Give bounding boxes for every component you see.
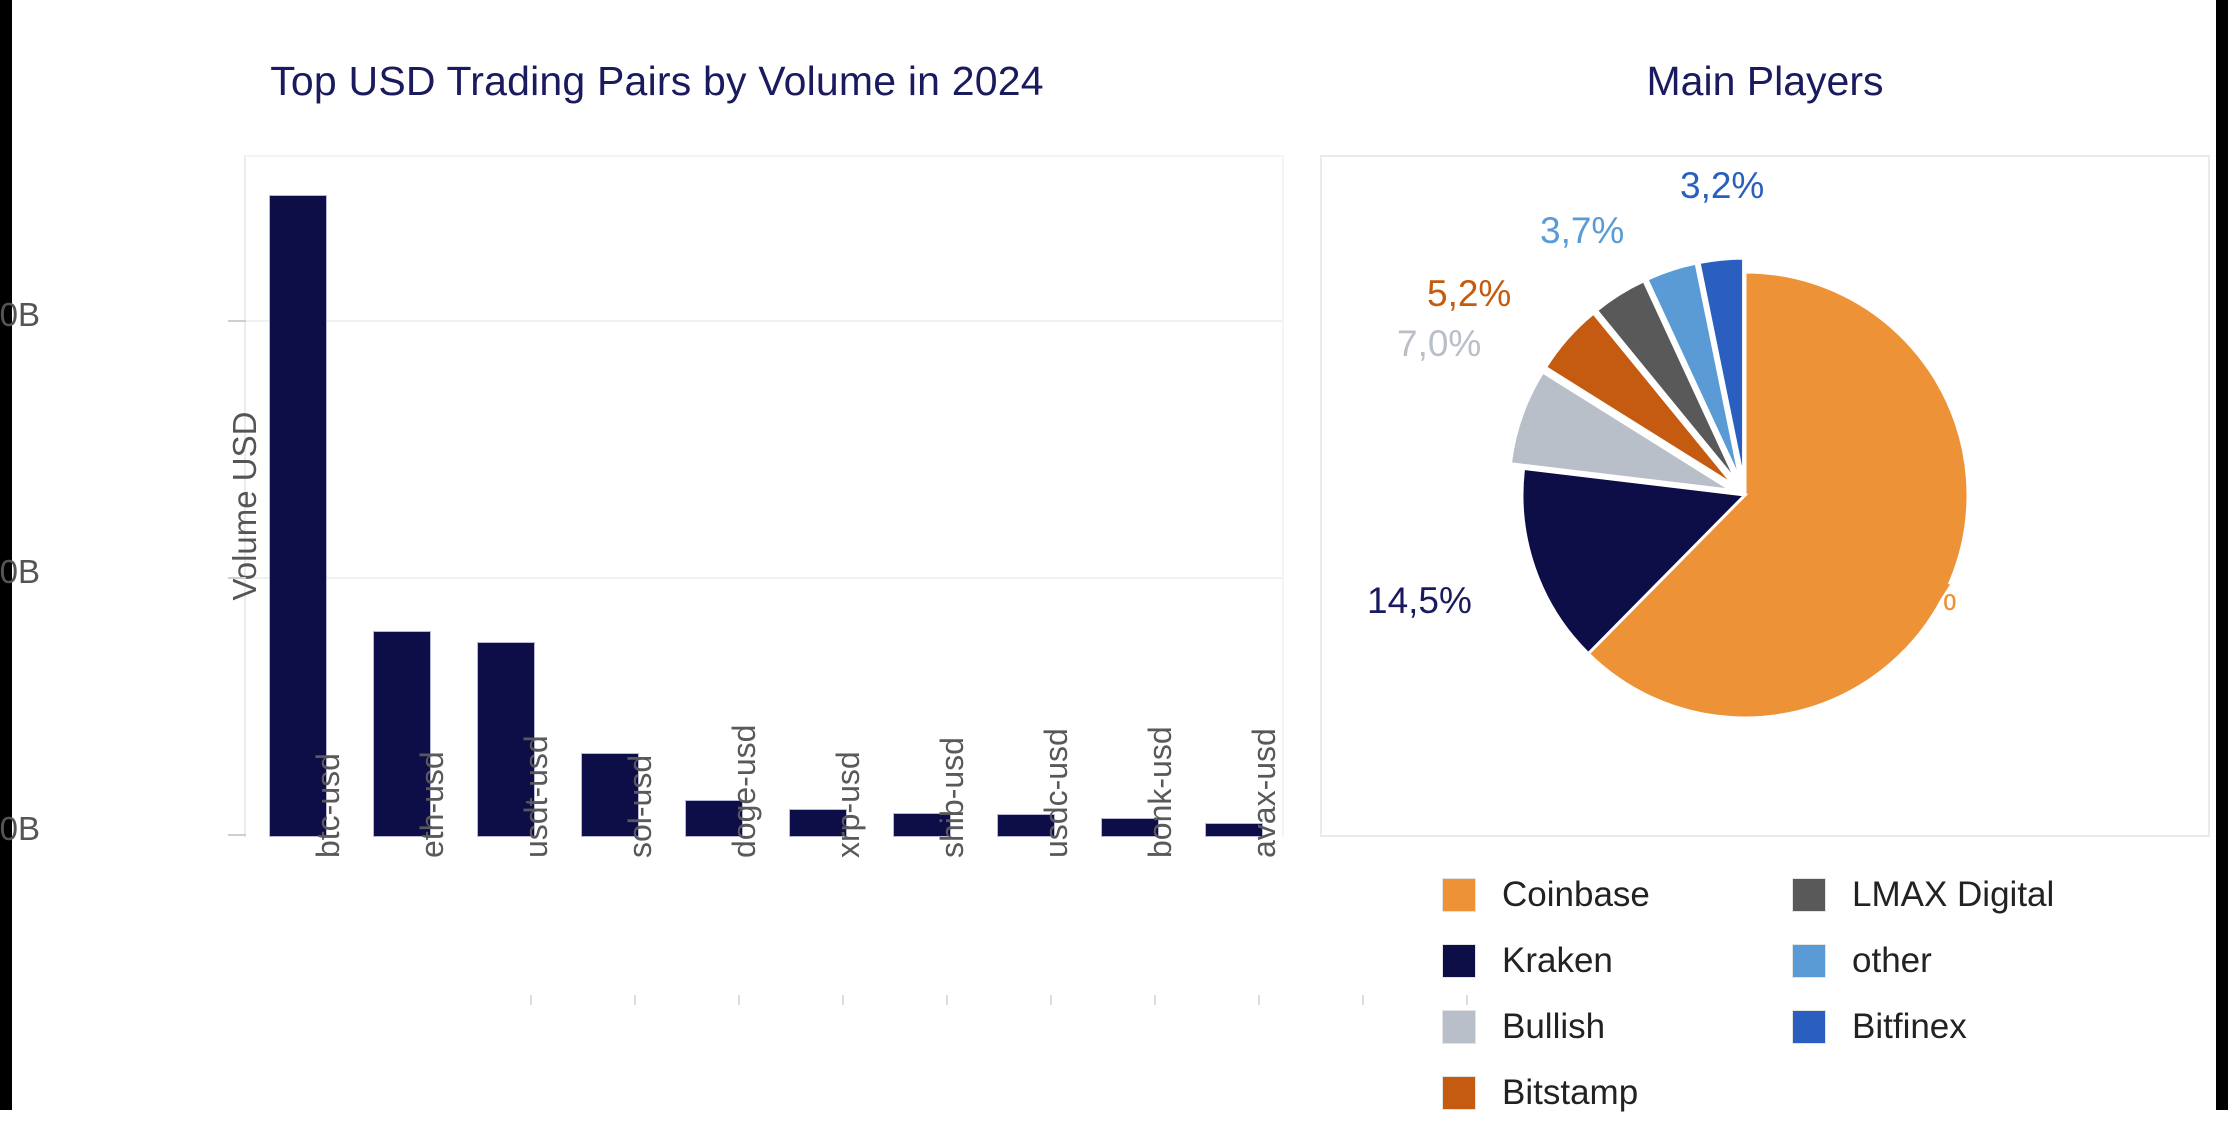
legend-item-label: Bitfinex [1852, 1007, 1967, 1047]
pie-chart-svg [1322, 157, 2212, 839]
legend-swatch-icon [1442, 1076, 1476, 1110]
x-tick-mark [1258, 995, 1260, 1005]
pie-label-32: 3,2% [1680, 165, 1764, 207]
legend-swatch-icon [1442, 944, 1476, 978]
legend-swatch-icon [1442, 878, 1476, 912]
x-tick-mark [738, 995, 740, 1005]
x-tick-label-shib-usd: shib-usd [934, 737, 971, 858]
legend-swatch-icon [1792, 944, 1826, 978]
x-tick-mark [946, 995, 948, 1005]
legend-swatch-icon [1792, 878, 1826, 912]
x-tick-mark [530, 995, 532, 1005]
x-tick-label-eth-usd: eth-usd [414, 751, 451, 858]
y-tick-mark [228, 577, 246, 579]
legend-item-bitfinex[interactable]: Bitfinex [1792, 994, 2054, 1060]
legend-item-coinbase[interactable]: Coinbase [1442, 862, 1650, 928]
legend-item-label: Kraken [1502, 941, 1613, 981]
legend-swatch-icon [1442, 1010, 1476, 1044]
pie-chart-legend: CoinbaseKrakenBullishBitstamp LMAX Digit… [1442, 862, 2228, 1102]
bar-chart-plot-area: Volume USD [244, 155, 1284, 837]
y-tick-label-400B: 400B [0, 296, 40, 334]
y-tick-label-200B: 200B [0, 553, 40, 591]
legend-item-bitstamp[interactable]: Bitstamp [1442, 1060, 1650, 1126]
pie-label-70: 7,0% [1397, 323, 1481, 365]
x-tick-mark [1154, 995, 1156, 1005]
x-tick-label-usdc-usd: usdc-usd [1038, 728, 1075, 858]
x-tick-label-bonk-usd: bonk-usd [1142, 726, 1179, 858]
legend-item-lmax-digital[interactable]: LMAX Digital [1792, 862, 2054, 928]
x-tick-label-doge-usd: doge-usd [726, 725, 763, 858]
legend-item-kraken[interactable]: Kraken [1442, 928, 1650, 994]
x-tick-mark [634, 995, 636, 1005]
x-tick-label-avax-usd: avax-usd [1246, 728, 1283, 858]
y-tick-label-0B: 0B [0, 810, 40, 848]
pie-label-145: 14,5% [1367, 580, 1472, 622]
pie-chart-plot-area [1320, 155, 2210, 837]
legend-swatch-icon [1792, 1010, 1826, 1044]
x-tick-label-sol-usd: sol-usd [622, 755, 659, 858]
pie-chart-title: Main Players [1302, 58, 2228, 105]
pie-label-52: 5,2% [1427, 273, 1511, 315]
y-tick-mark [228, 320, 246, 322]
y-tick-mark [228, 834, 246, 836]
legend-item-label: Bullish [1502, 1007, 1605, 1047]
x-tick-label-usdt-usd: usdt-usd [518, 735, 555, 858]
legend-item-label: other [1852, 941, 1932, 981]
pie-label-37: 3,7% [1540, 210, 1624, 252]
bar-chart-panel: Top USD Trading Pairs by Volume in 2024 … [12, 0, 1302, 1110]
x-tick-label-btc-usd: btc-usd [310, 753, 347, 858]
legend-column-left: CoinbaseKrakenBullishBitstamp [1442, 862, 1650, 1126]
bar-series [246, 157, 1282, 837]
x-tick-label-xrp-usd: xrp-usd [830, 751, 867, 858]
bar-chart-title: Top USD Trading Pairs by Volume in 2024 [182, 58, 1132, 105]
legend-item-other[interactable]: other [1792, 928, 2054, 994]
x-tick-mark [1050, 995, 1052, 1005]
legend-item-label: LMAX Digital [1852, 875, 2054, 915]
legend-column-right: LMAX DigitalotherBitfinex [1792, 862, 2054, 1060]
pie-label-624: 62,4% [1852, 577, 1957, 619]
legend-item-label: Coinbase [1502, 875, 1650, 915]
legend-item-label: Bitstamp [1502, 1073, 1638, 1113]
x-tick-mark [842, 995, 844, 1005]
legend-item-bullish[interactable]: Bullish [1442, 994, 1650, 1060]
dashboard-canvas: Top USD Trading Pairs by Volume in 2024 … [12, 0, 2216, 1110]
bar-btc-usd[interactable] [269, 195, 326, 838]
